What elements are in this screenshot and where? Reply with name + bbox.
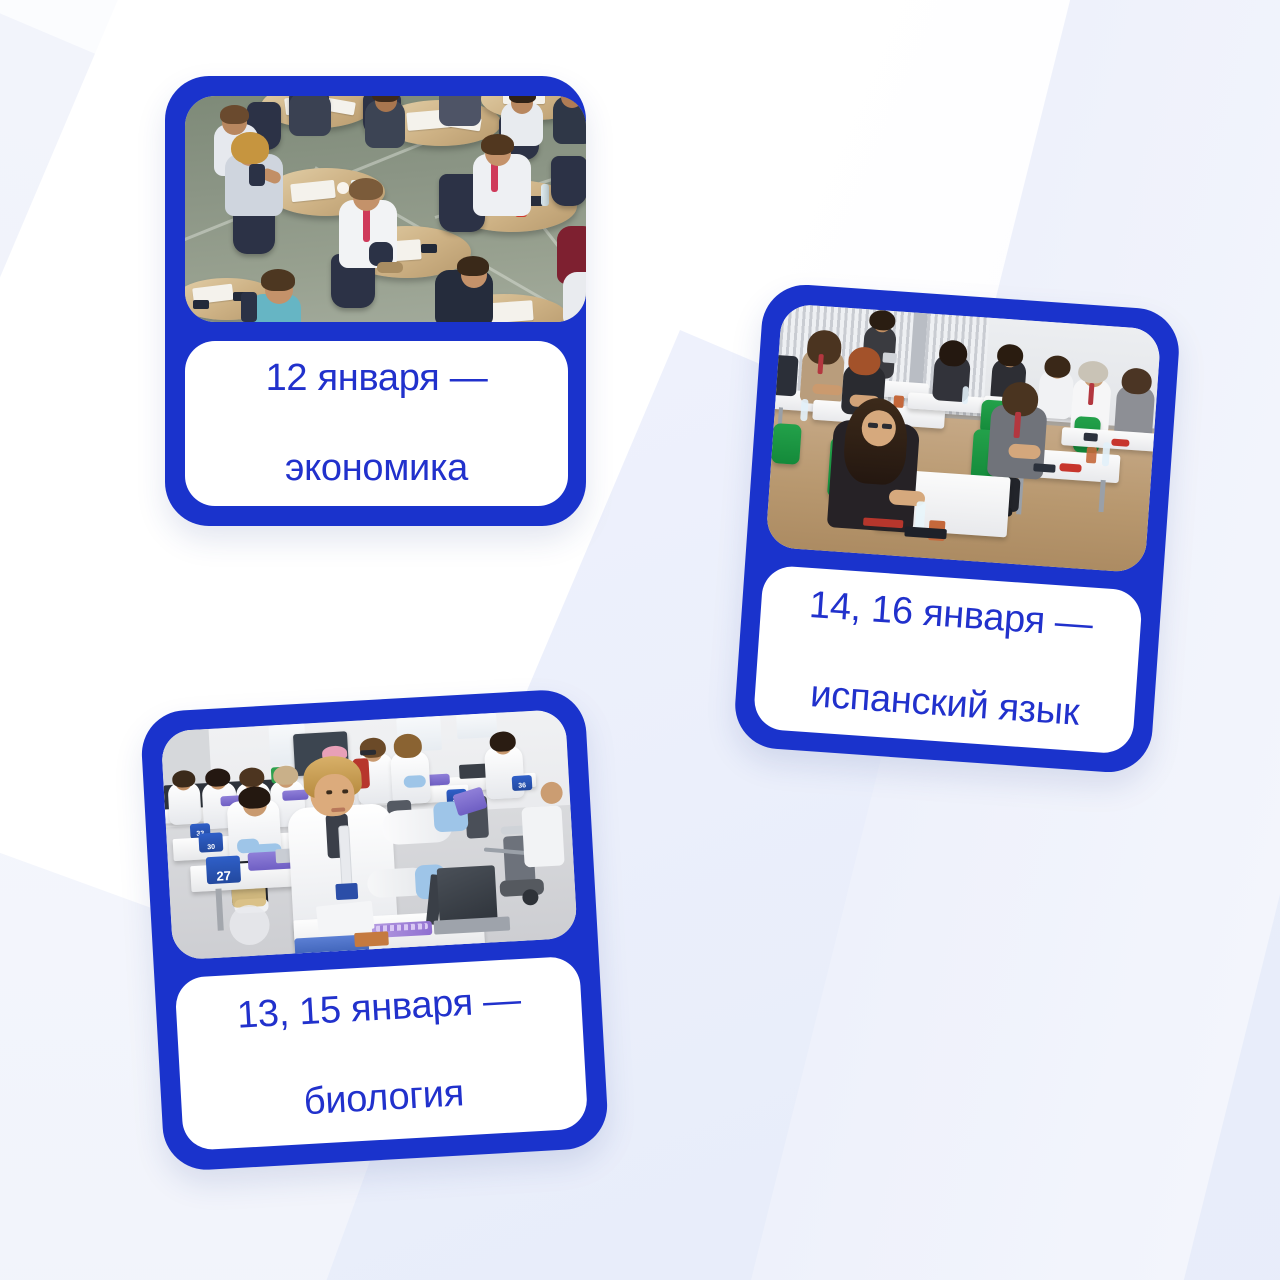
phone	[421, 244, 437, 253]
participant-hair-blonde	[273, 765, 299, 785]
red-object	[1059, 463, 1082, 473]
participant-hair	[172, 770, 196, 788]
desk-number-card: 30	[198, 832, 223, 852]
blue-glove	[237, 838, 260, 853]
participant-hair	[239, 767, 265, 787]
card-biology[interactable]: 36 33	[140, 688, 610, 1172]
eye	[326, 790, 332, 794]
participant-hair	[261, 269, 295, 291]
label-line-2: испанский язык	[801, 672, 1087, 737]
mouth	[331, 807, 345, 812]
phone	[193, 300, 209, 309]
participant-hair	[205, 768, 231, 787]
desk-number-card: 27	[206, 855, 241, 884]
green-chair	[771, 423, 802, 465]
held-paper	[882, 352, 897, 363]
participant-hair	[457, 256, 489, 276]
eyeglasses	[360, 750, 376, 756]
participant-hair	[481, 134, 514, 155]
id-badge	[335, 883, 358, 900]
photo-exam-hall-economics	[185, 96, 586, 322]
water-bottle	[962, 386, 969, 404]
participant-torso	[439, 96, 481, 126]
water-glass	[337, 182, 349, 194]
participant-hands	[812, 384, 843, 396]
participant-torso	[563, 272, 586, 322]
participant-torso	[289, 96, 331, 136]
water-bottle	[541, 184, 549, 206]
label-line-2: экономика	[266, 446, 488, 491]
label-spanish-text: 14, 16 января —испанский язык	[801, 583, 1094, 737]
backpack	[765, 354, 798, 396]
chair	[551, 156, 586, 206]
label-economics-text: 12 января —экономика	[266, 356, 488, 490]
participant-hair	[220, 105, 249, 124]
red-object	[1111, 439, 1129, 447]
drink-cup	[1086, 447, 1097, 464]
participant-hands	[1008, 443, 1041, 459]
participant-bag	[249, 164, 265, 186]
label-line-1: 13, 15 января —	[236, 978, 522, 1039]
label-line-2: биология	[241, 1068, 527, 1129]
participant-shoe	[377, 262, 403, 273]
eyeglass-lens	[868, 423, 878, 429]
phone	[1083, 433, 1098, 442]
label-spanish: 14, 16 января —испанский язык	[753, 564, 1144, 754]
wooden-item	[354, 931, 389, 947]
participant-hair-blonde	[231, 132, 269, 164]
blue-glove	[403, 775, 426, 788]
label-biology: 13, 15 января —биология	[174, 955, 588, 1150]
card-spanish[interactable]: 14, 16 января —испанский язык	[732, 282, 1181, 775]
participant-hair	[489, 731, 516, 752]
participant-hair	[238, 786, 271, 810]
lanyard	[491, 162, 498, 192]
card-economics[interactable]: 12 января —экономика	[165, 76, 586, 526]
lab-coat-partial	[521, 805, 564, 867]
photo-classroom-spanish	[765, 303, 1161, 573]
desk-number-card: 36	[512, 775, 533, 791]
participant-hair	[349, 178, 383, 200]
label-line-1: 14, 16 января —	[808, 583, 1094, 648]
participant-hair	[806, 329, 842, 365]
eye	[342, 789, 348, 793]
participant-bag	[241, 292, 257, 322]
phone	[1033, 463, 1056, 473]
eyeglass-lens	[882, 424, 892, 430]
label-biology-text: 13, 15 января —биология	[236, 978, 527, 1128]
lanyard	[363, 208, 370, 242]
participant-hair	[393, 733, 422, 759]
poster-canvas: 12 января —экономика	[0, 0, 1280, 1280]
label-economics: 12 января —экономика	[185, 341, 568, 506]
photo-biology-lab: 36 33	[161, 709, 578, 960]
label-line-1: 12 января —	[266, 356, 488, 401]
